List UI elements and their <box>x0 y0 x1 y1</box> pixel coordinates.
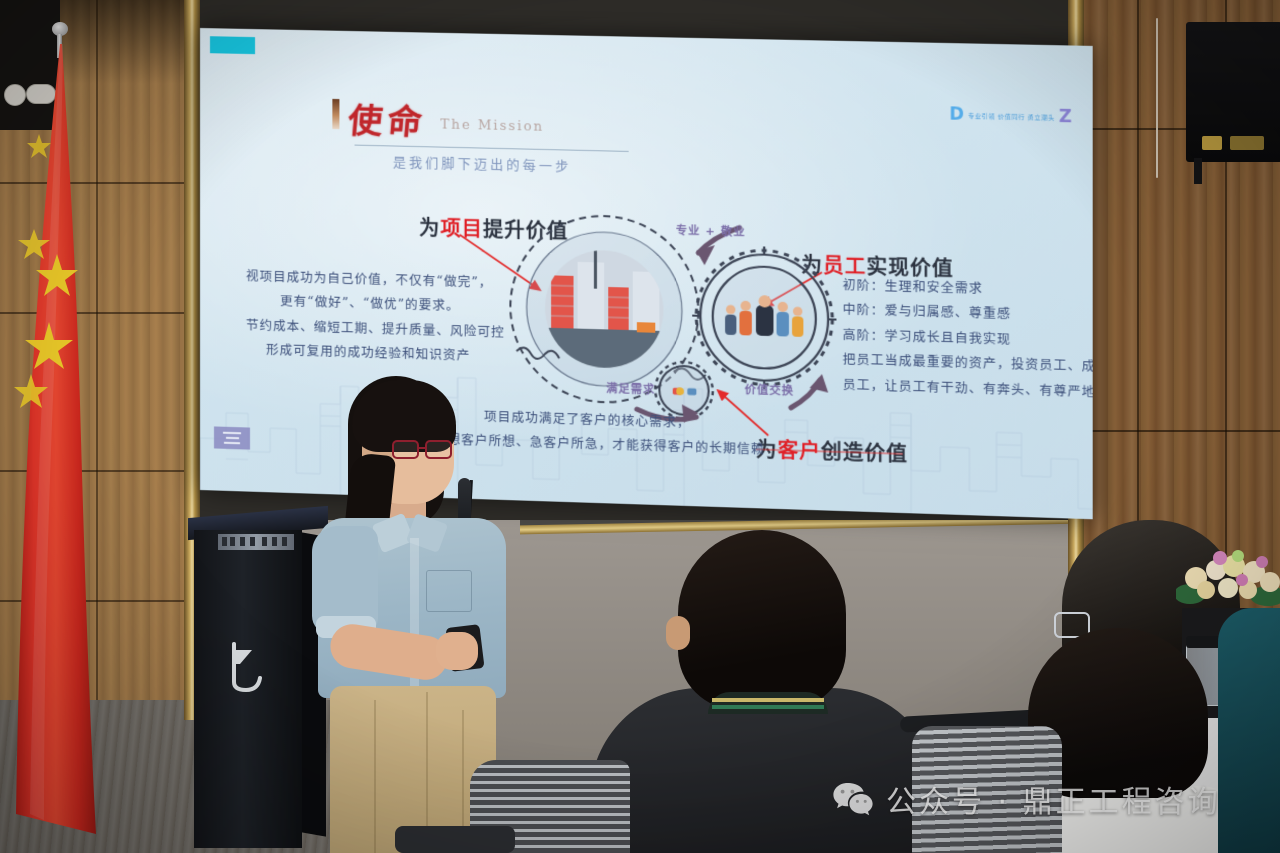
gear-label-top: 专业 + 敬业 <box>676 222 746 240</box>
gear-label-bottom-right: 价值交换 <box>745 381 794 399</box>
wall-speaker <box>1186 22 1280 162</box>
lectern-control-panel[interactable] <box>218 534 294 550</box>
watermark-text: 公众号 · 鼎正工程咨询 <box>886 777 1221 821</box>
presenter-hand <box>436 632 478 670</box>
gear-label-bottom-left: 满足需求 <box>606 380 655 398</box>
presenter-glasses <box>392 440 454 459</box>
handwriting-employee: 初阶：生理和安全需求 中阶：爱与归属感、尊重感 高阶：学习成长且自我实现 把员工… <box>843 273 1093 405</box>
presentation-room-photo: D 专业引领 价值同行 勇立潮头 Z 使命 The Mission 是我们脚下迈… <box>0 0 1280 853</box>
chinese-flag <box>10 44 140 844</box>
chair-front-left <box>395 826 515 853</box>
speaker-cable <box>1156 18 1158 178</box>
channel-watermark: 公众号 · 鼎正工程咨询 <box>832 777 1221 821</box>
audience-member-far-right <box>1218 608 1280 853</box>
handwriting-project: 视项目成功为自己价值，不仅有“做完”， 更有“做好”、“做优”的要求。 节约成本… <box>246 264 505 369</box>
wechat-icon <box>832 781 874 817</box>
lectern-logo <box>222 640 266 696</box>
